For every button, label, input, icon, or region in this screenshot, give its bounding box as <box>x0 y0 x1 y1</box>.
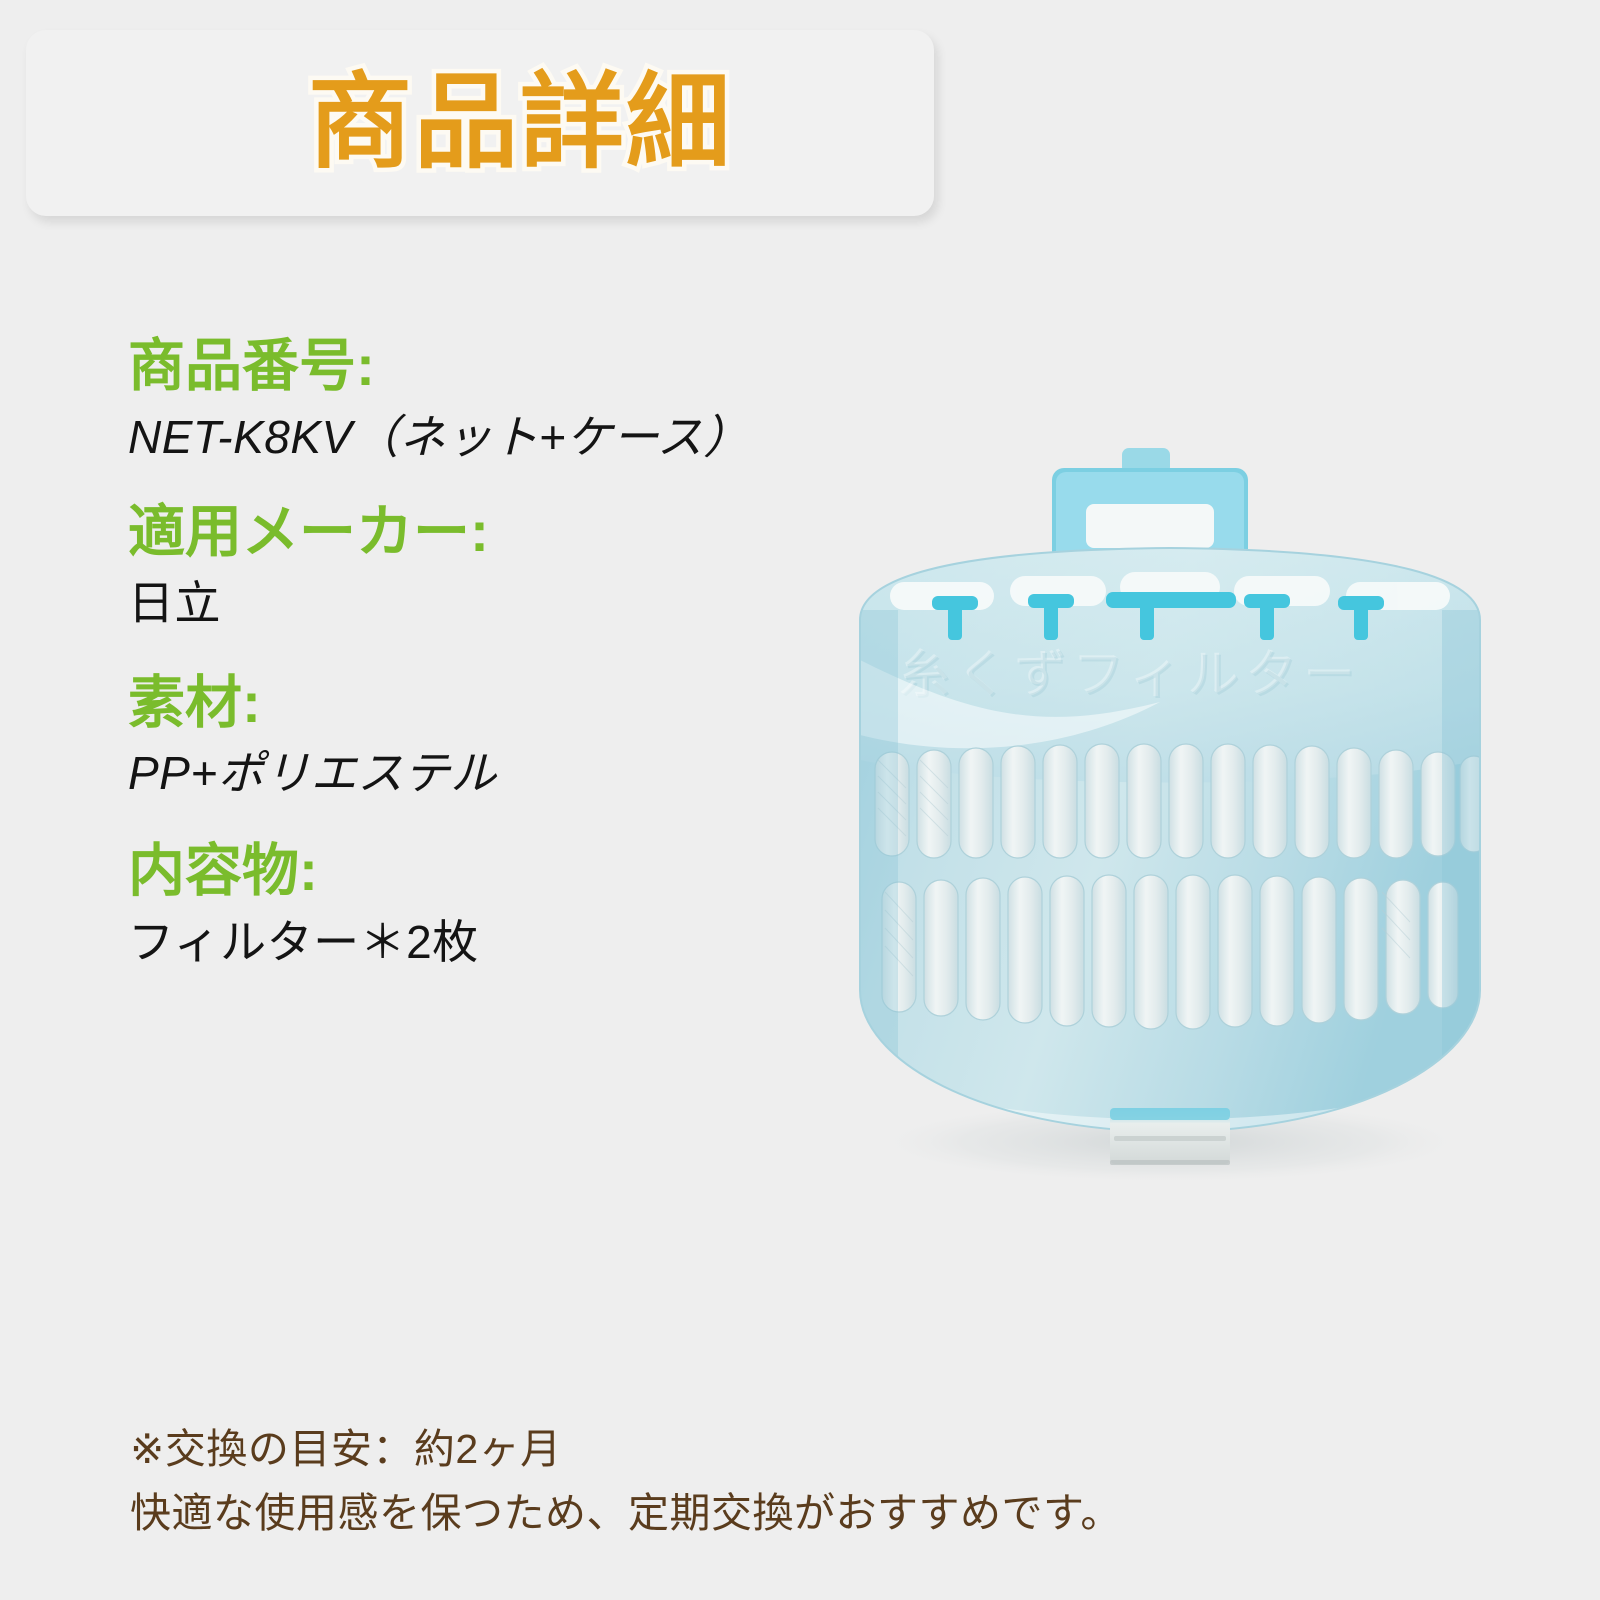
product-image-lint-filter-case: 糸くずフィルター 糸くずフィルター <box>820 430 1520 1220</box>
bottom-clip <box>1110 1108 1230 1165</box>
spec-label-maker: 適用メーカー: <box>128 496 888 569</box>
replacement-note: ※交換の目安：約2ヶ月 快適な使用感を保つため、定期交換がおすすめです。 <box>130 1418 1122 1545</box>
spec-value-contents: フィルター＊2枚 <box>128 910 888 975</box>
spec-value-maker: 日立 <box>128 571 888 636</box>
spec-value-material: PP+ポリエステル <box>128 741 888 806</box>
svg-text:糸くずフィルター: 糸くずフィルター <box>900 648 1363 706</box>
spec-row-product-number: 商品番号: NET-K8KV（ネット+ケース） <box>128 330 888 470</box>
replacement-note-line-2: 快適な使用感を保つため、定期交換がおすすめです。 <box>130 1482 1122 1546</box>
slot-row-upper <box>875 744 1488 858</box>
product-spec-list: 商品番号: NET-K8KV（ネット+ケース） 適用メーカー: 日立 素材: P… <box>128 330 888 993</box>
replacement-note-line-1: ※交換の目安：約2ヶ月 <box>130 1418 1122 1482</box>
spec-row-maker: 適用メーカー: 日立 <box>128 496 888 636</box>
spec-row-material: 素材: PP+ポリエステル <box>128 667 888 807</box>
spec-value-product-number: NET-K8KV（ネット+ケース） <box>128 405 888 470</box>
spec-label-material: 素材: <box>128 667 888 740</box>
spec-label-product-number: 商品番号: <box>128 330 888 403</box>
page-title: 商品詳細 <box>308 71 732 175</box>
spec-label-contents: 内容物: <box>128 835 888 908</box>
product-detail-header-card: 商品詳細 <box>26 30 934 216</box>
filter-case-body: 糸くずフィルター 糸くずフィルター <box>860 548 1488 1140</box>
spec-row-contents: 内容物: フィルター＊2枚 <box>128 835 888 975</box>
